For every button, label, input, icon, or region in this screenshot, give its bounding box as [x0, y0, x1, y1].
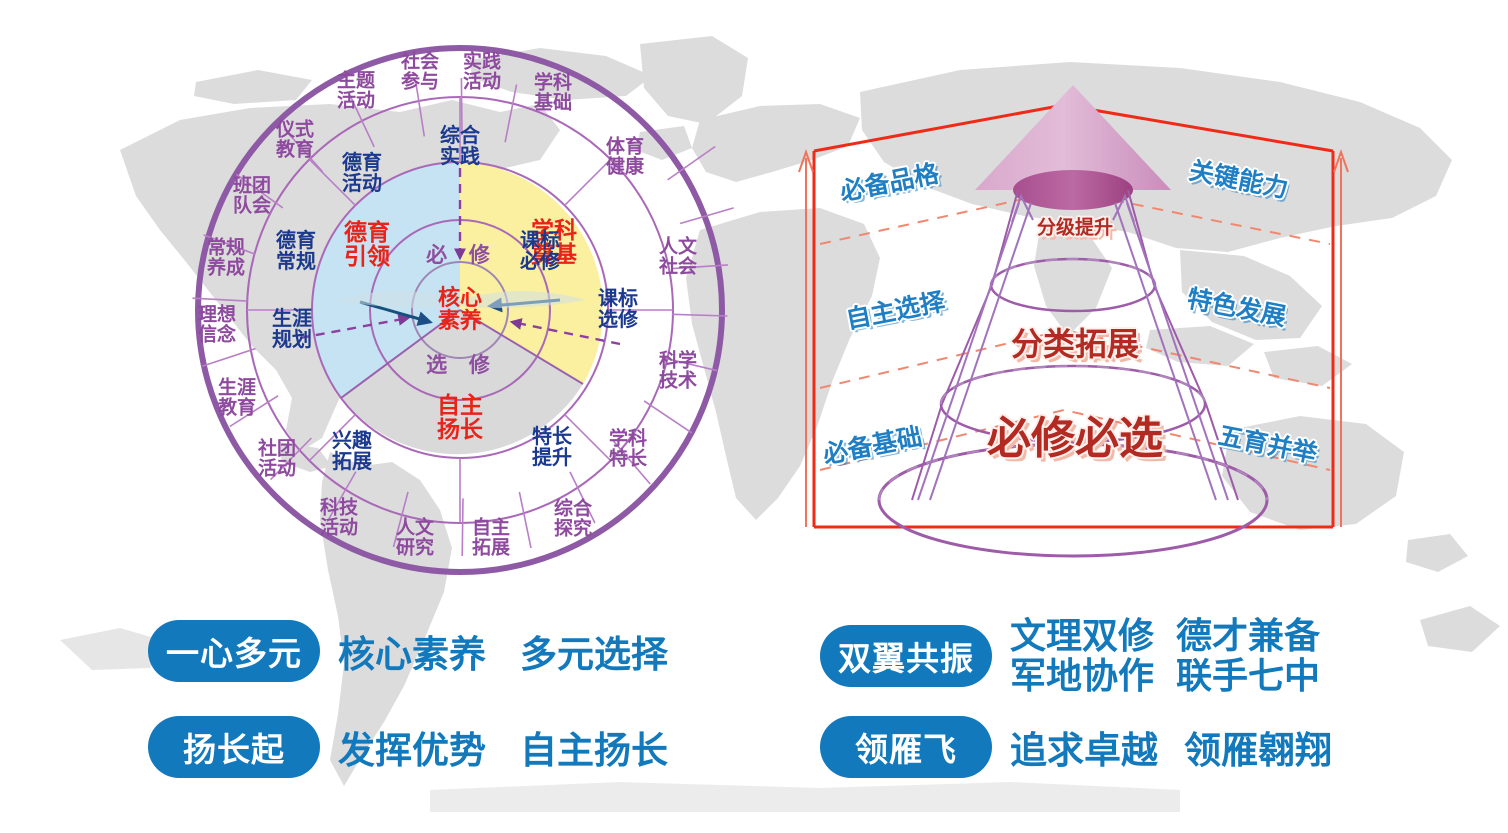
rise-left-2	[930, 203, 1031, 500]
phrase-text: 德才兼备	[1176, 616, 1320, 656]
level-line-bottom	[820, 410, 1330, 470]
phrase-text: 多元选择	[520, 624, 668, 678]
phrase-text: 军地协作	[1010, 656, 1154, 696]
slogan-phrases-lead-goose-fly: 追求卓越 领雁翱翔	[1010, 720, 1332, 774]
slogan-phrases-strength-start: 发挥优势 自主扬长	[338, 720, 668, 774]
slogan-section: 一心多元 核心素养 多元选择 双翼共振 文理双修 德才兼备 军地协作 联手七中	[0, 604, 1508, 794]
rise-left-1	[918, 203, 1019, 500]
phrase-text: 文理双修	[1010, 616, 1154, 656]
slogan-one-core-multi: 一心多元 核心素养 多元选择	[148, 620, 668, 682]
phrase-text: 追求卓越	[1010, 720, 1158, 774]
phrase-row: 发挥优势 自主扬长	[338, 720, 668, 774]
slogan-pill-strength-start[interactable]: 扬长起	[148, 716, 320, 778]
infographic-canvas: 核心 素养 必 修 选 修 德育 引领 学科 奠基 自主 扬长 综合 实践 课标…	[0, 0, 1508, 833]
rise-right-2	[1115, 203, 1216, 500]
phrase-row: 文理双修 德才兼备	[1010, 616, 1320, 656]
phrase-text: 发挥优势	[338, 720, 486, 774]
phrase-row: 核心素养 多元选择	[338, 624, 668, 678]
slogan-lead-goose-fly: 领雁飞 追求卓越 领雁翱翔	[820, 716, 1332, 778]
cone-base-back-dashed	[879, 444, 1267, 500]
level-line-mid	[820, 330, 1330, 388]
phrase-row: 军地协作 联手七中	[1010, 656, 1320, 696]
tier3-back-dashed	[991, 259, 1155, 285]
slogan-strength-start: 扬长起 发挥优势 自主扬长	[148, 716, 668, 778]
slogan-phrases-dual-wing: 文理双修 德才兼备 军地协作 联手七中	[1010, 616, 1320, 697]
slogan-pill-one-core-multi[interactable]: 一心多元	[148, 620, 320, 682]
cone-body	[879, 85, 1267, 556]
phrase-text: 自主扬长	[520, 720, 668, 774]
slogan-pill-lead-goose-fly[interactable]: 领雁飞	[820, 716, 992, 778]
tier2-sides	[942, 285, 1206, 404]
phrase-text: 领雁翱翔	[1184, 720, 1332, 774]
phrase-row: 追求卓越 领雁翱翔	[1010, 720, 1332, 774]
tier2-back-dashed	[941, 366, 1205, 404]
slogan-dual-wing: 双翼共振 文理双修 德才兼备 军地协作 联手七中	[820, 616, 1320, 697]
slogan-pill-dual-wing[interactable]: 双翼共振	[820, 625, 992, 687]
phrase-text: 联手七中	[1176, 656, 1320, 696]
rise-right-1	[1127, 203, 1228, 500]
slogan-phrases-one-core-multi: 核心素养 多元选择	[338, 624, 668, 678]
cone-level-lines	[820, 190, 1330, 470]
phrase-text: 核心素养	[338, 624, 486, 678]
